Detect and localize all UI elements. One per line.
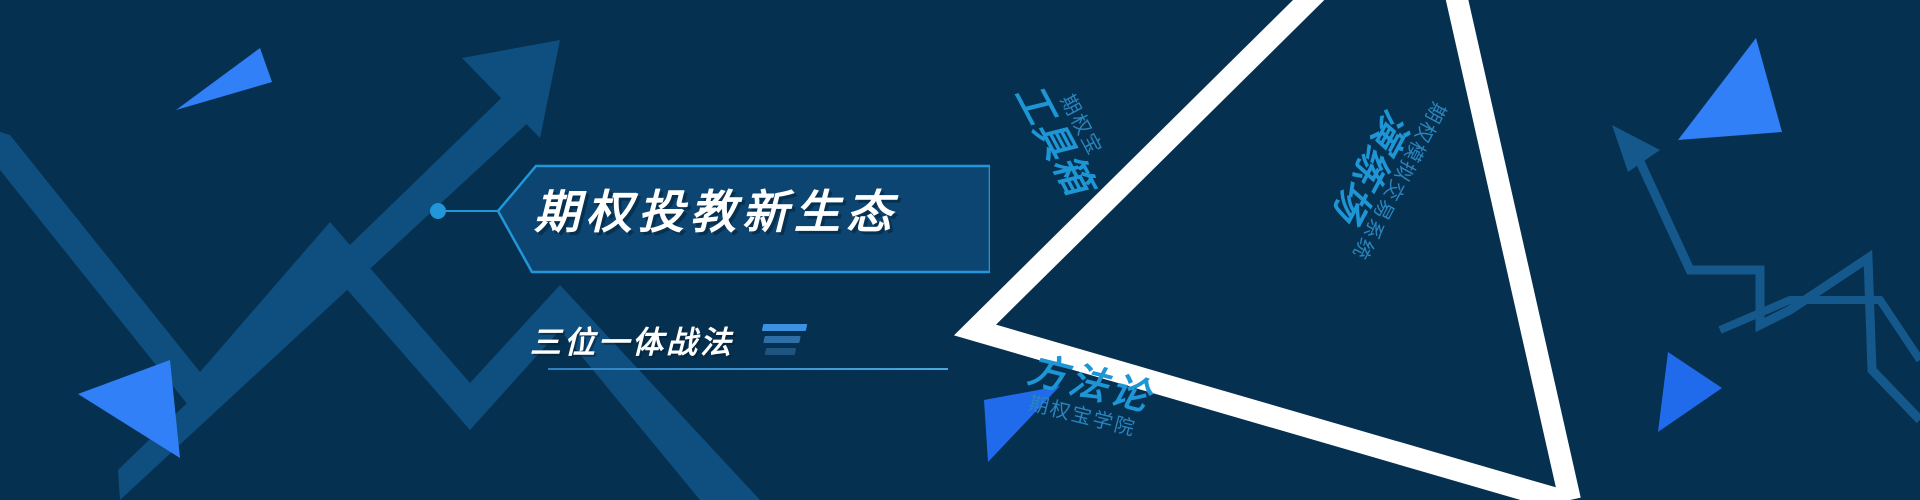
subtitle-bar-1 xyxy=(762,324,807,331)
subtitle-text: 三位一体战法 xyxy=(530,317,734,362)
subtitle-bar-2 xyxy=(763,336,800,343)
connector-dot xyxy=(430,203,446,219)
promo-banner: 期权投教新生态 三位一体战法 期权宝 工具箱 期权模拟交易系统 演练场 方法论 … xyxy=(0,0,1920,500)
triangle-bottom-right xyxy=(1658,352,1722,432)
triangle-top-right xyxy=(1678,38,1782,140)
subtitle-bar-3 xyxy=(765,348,796,355)
subtitle-bars-icon xyxy=(757,324,808,355)
triangle-edge-label-toolbox[interactable]: 期权宝 工具箱 xyxy=(1007,67,1120,203)
title-block: 期权投教新生态 xyxy=(430,148,990,328)
subtitle-row: 三位一体战法 xyxy=(530,312,950,366)
subtitle-divider xyxy=(548,368,948,370)
page-title: 期权投教新生态 xyxy=(506,174,926,244)
triangle-edge-label-drill[interactable]: 期权模拟交易系统 演练场 xyxy=(1311,79,1450,264)
triangle-emblem: 期权宝 工具箱 期权模拟交易系统 演练场 方法论 期权宝学院 xyxy=(930,0,1630,500)
triangle-top-left xyxy=(176,48,272,110)
triangle-bottom-left xyxy=(78,360,180,458)
zigzag-far-right xyxy=(1720,300,1920,360)
triangle-edge-label-methodology[interactable]: 方法论 期权宝学院 xyxy=(1018,351,1156,443)
